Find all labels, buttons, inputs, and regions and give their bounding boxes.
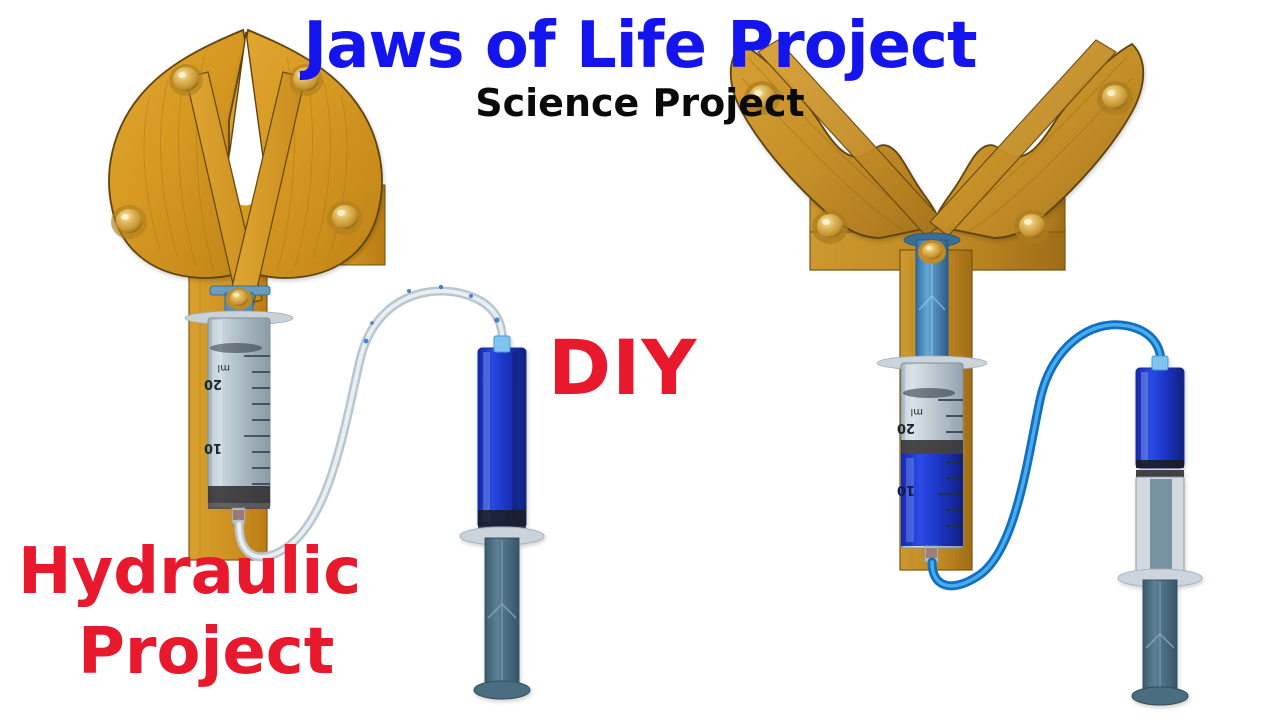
left-hydraulic-tube [239,291,502,557]
page-subtitle: Science Project [0,84,1280,122]
syringe-mark-20: 20 [204,376,222,391]
hand-syringe-stopper [478,510,526,526]
plunger-top-cap [904,233,960,247]
hand-syringe-flange [460,527,544,545]
syringe-stopper [208,486,270,503]
syringe-mark-20: 20 [897,420,915,435]
tube-specks [364,285,500,344]
right-mounted-syringe: 20 ml 10 [877,356,987,562]
glue-dot-icon [918,240,946,264]
hand-syringe-connector [1152,356,1168,370]
label-hydraulic-line2: Project [78,620,334,684]
syringe-flange [185,311,293,325]
syringe-mark-10: 10 [204,440,222,455]
hand-syringe-flange [1118,569,1202,587]
plunger-rod [916,240,948,360]
syringe-flange [877,356,987,370]
hand-syringe-stopper [1136,460,1184,468]
hand-syringe-liquid [478,348,526,528]
left-plunger-mount [210,286,270,315]
syringe-barrel [901,363,963,548]
left-hand-syringe [460,336,544,699]
left-mounted-syringe: 20 ml 10 [185,311,293,524]
right-base-bar [810,228,1065,270]
syringe-barrel [208,318,270,508]
left-mount-strip [189,175,267,560]
right-hand-syringe [1118,356,1202,705]
page-title: Jaws of Life Project [0,14,1280,78]
syringe-unit-ml: ml [217,362,230,373]
syringe-nozzle [925,546,938,562]
hand-syringe-liquid [1136,368,1184,468]
glue-dot-icon [327,201,363,235]
hand-syringe-plunger-rod [1143,580,1177,692]
right-plunger-extended [904,233,960,360]
glue-dot-icon [111,205,147,239]
right-hydraulic-tube [932,325,1161,586]
syringe-graduations [938,400,963,526]
screenshot-canvas: 20 ml 10 [0,0,1280,720]
hand-syringe-plunger-rod [485,538,519,686]
right-right-block [995,190,1065,232]
syringe-stopper [901,440,963,454]
glue-dot-icon [1014,210,1050,244]
right-mount-strip [900,250,972,570]
hand-syringe-thumb-rest [1132,687,1188,705]
glue-dot-icon [812,210,848,244]
label-hydraulic-line1: Hydraulic [18,540,361,604]
syringe-liquid [901,454,963,546]
label-diy: DIY [548,330,697,406]
syringe-unit-ml: ml [910,406,923,417]
right-left-block [810,190,880,232]
syringe-nozzle [232,508,245,524]
hand-syringe-barrel [1136,477,1184,575]
hand-syringe-thumb-rest [474,681,530,699]
syringe-mark-10: 10 [897,482,915,497]
left-back-plate [300,185,385,265]
syringe-graduations [244,356,270,484]
hand-syringe-connector [494,336,510,352]
glue-dot-icon [226,288,252,310]
